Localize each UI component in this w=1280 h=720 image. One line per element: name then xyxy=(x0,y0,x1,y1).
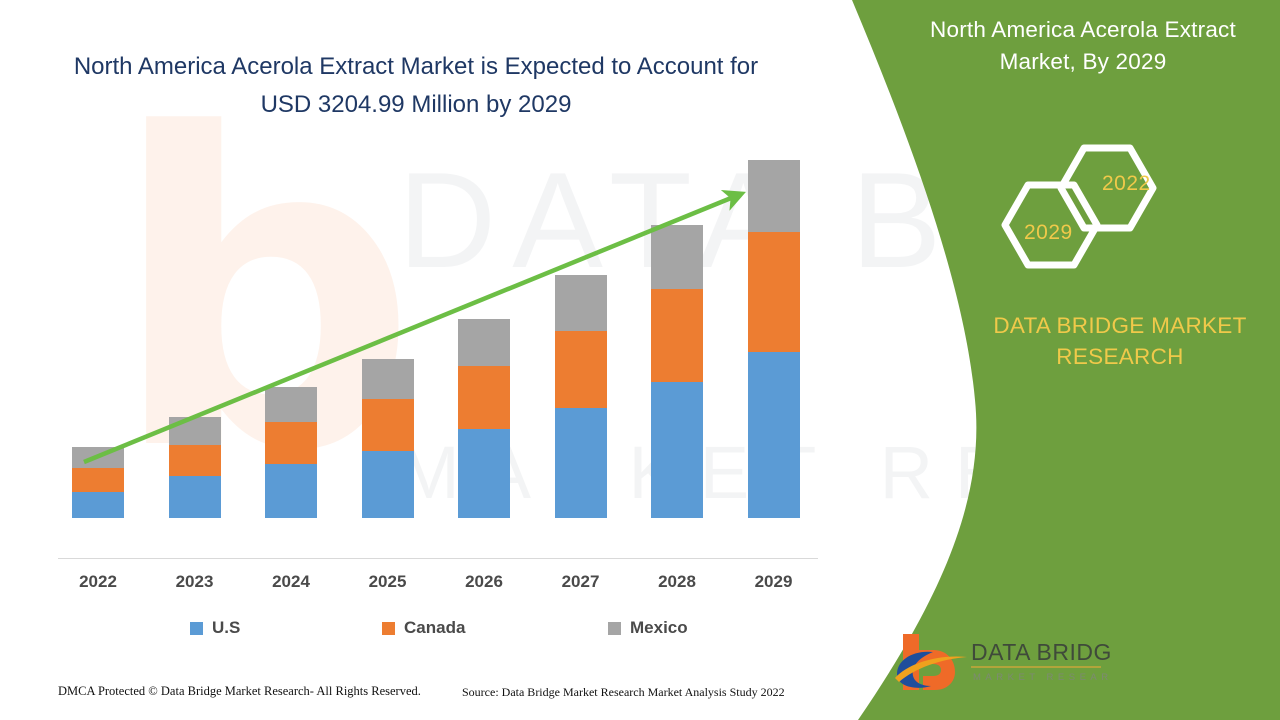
data-bridge-logo: DATA BRIDGE MARKET RESEARCH xyxy=(893,630,1113,692)
logo-text-primary: DATA BRIDGE xyxy=(971,639,1113,665)
bar-segment-canada-2023 xyxy=(169,445,221,476)
chart-legend: U.SCanadaMexico xyxy=(0,618,850,644)
x-axis-label-2024: 2024 xyxy=(256,572,326,592)
bar-segment-us-2028 xyxy=(651,382,703,518)
bar-segment-mexico-2023 xyxy=(169,417,221,445)
bar-group-2024 xyxy=(265,387,317,518)
bar-segment-us-2023 xyxy=(169,476,221,518)
legend-swatch-us xyxy=(190,622,203,635)
stacked-bar-chart: 20222023202420252026202720282029 xyxy=(0,0,860,600)
x-axis-label-2027: 2027 xyxy=(546,572,616,592)
bar-group-2025 xyxy=(362,359,414,518)
bar-segment-canada-2027 xyxy=(555,331,607,408)
legend-label-mexico: Mexico xyxy=(630,618,688,638)
x-axis-label-2022: 2022 xyxy=(63,572,133,592)
bar-segment-mexico-2028 xyxy=(651,225,703,289)
hexagon-label-2029: 2029 xyxy=(1024,221,1073,245)
chart-x-axis-labels: 20222023202420252026202720282029 xyxy=(0,572,860,602)
bar-segment-us-2022 xyxy=(72,492,124,518)
bar-segment-canada-2026 xyxy=(458,366,510,430)
legend-swatch-mexico xyxy=(608,622,621,635)
hexagon-badge-group xyxy=(980,130,1200,290)
bar-segment-canada-2028 xyxy=(651,289,703,382)
chart-bars-area xyxy=(0,0,860,560)
x-axis-label-2028: 2028 xyxy=(642,572,712,592)
legend-item-mexico[interactable]: Mexico xyxy=(608,618,688,638)
brand-name-text: DATA BRIDGE MARKET RESEARCH xyxy=(960,310,1280,372)
bar-segment-us-2029 xyxy=(748,352,800,518)
bar-group-2029 xyxy=(748,160,800,518)
footer-copyright: DMCA Protected © Data Bridge Market Rese… xyxy=(58,684,421,699)
bar-segment-us-2024 xyxy=(265,464,317,518)
bar-segment-mexico-2029 xyxy=(748,160,800,232)
bar-segment-mexico-2026 xyxy=(458,319,510,366)
bar-segment-us-2027 xyxy=(555,408,607,518)
footer-source: Source: Data Bridge Market Research Mark… xyxy=(462,685,785,700)
bar-group-2026 xyxy=(458,319,510,518)
bar-segment-canada-2029 xyxy=(748,232,800,352)
bar-segment-mexico-2025 xyxy=(362,359,414,399)
logo-text-secondary: MARKET RESEARCH xyxy=(973,672,1113,683)
bar-group-2022 xyxy=(72,447,124,518)
x-axis-label-2026: 2026 xyxy=(449,572,519,592)
legend-label-canada: Canada xyxy=(404,618,465,638)
x-axis-label-2029: 2029 xyxy=(739,572,809,592)
bar-segment-mexico-2027 xyxy=(555,275,607,331)
infographic-canvas: b DATA BRIDGE MARKET RESEARCH North Amer… xyxy=(0,0,1280,720)
bar-segment-canada-2025 xyxy=(362,399,414,450)
bar-group-2027 xyxy=(555,275,607,518)
panel-title: North America Acerola Extract Market, By… xyxy=(900,14,1266,78)
bar-group-2023 xyxy=(169,417,221,518)
x-axis-label-2023: 2023 xyxy=(160,572,230,592)
bar-segment-us-2025 xyxy=(362,451,414,518)
legend-item-us[interactable]: U.S xyxy=(190,618,240,638)
bar-segment-mexico-2024 xyxy=(265,387,317,422)
bar-group-2028 xyxy=(651,225,703,518)
legend-item-canada[interactable]: Canada xyxy=(382,618,465,638)
legend-label-us: U.S xyxy=(212,618,240,638)
x-axis-label-2025: 2025 xyxy=(353,572,423,592)
bar-segment-canada-2022 xyxy=(72,468,124,491)
hexagon-label-2022: 2022 xyxy=(1102,172,1151,196)
bar-segment-us-2026 xyxy=(458,429,510,518)
legend-swatch-canada xyxy=(382,622,395,635)
bar-segment-canada-2024 xyxy=(265,422,317,464)
bar-segment-mexico-2022 xyxy=(72,447,124,468)
